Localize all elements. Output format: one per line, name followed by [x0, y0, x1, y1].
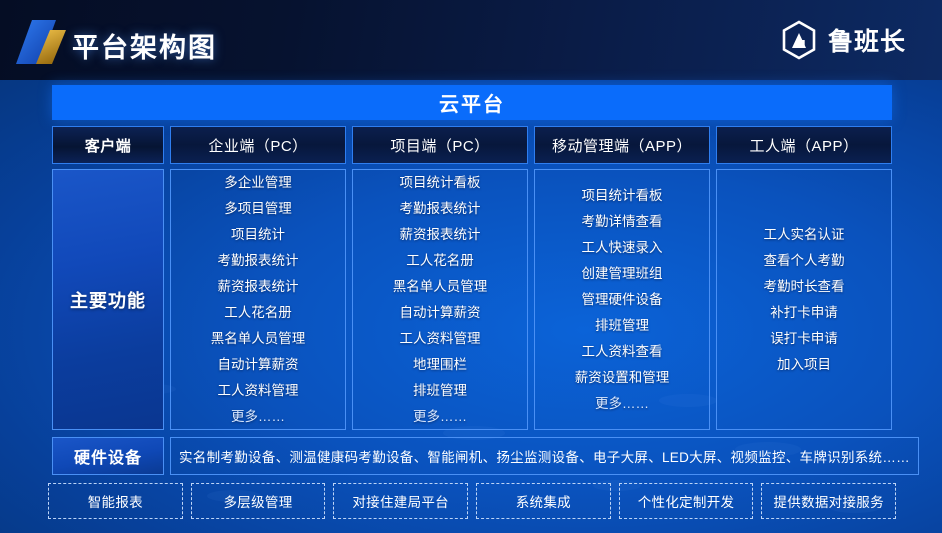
service-chip-row: 智能报表 多层级管理 对接住建局平台 系统集成 个性化定制开发 提供数据对接服务: [48, 483, 896, 519]
feature-item: 考勤报表统计: [400, 196, 481, 221]
feature-item: 查看个人考勤: [764, 248, 845, 273]
feature-item: 工人资料查看: [582, 339, 663, 364]
main-features-label: 主要功能: [52, 169, 164, 430]
double-parallelogram-logo-icon: [16, 18, 72, 66]
feature-item: 黑名单人员管理: [211, 326, 306, 351]
cloud-platform-bar: 云平台: [52, 85, 892, 120]
tab-mobile-management-app[interactable]: 移动管理端（APP）: [534, 126, 710, 164]
feature-item: 补打卡申请: [770, 300, 838, 325]
feature-item: 管理硬件设备: [582, 287, 663, 312]
feature-item: 误打卡申请: [770, 326, 838, 351]
tab-worker-app[interactable]: 工人端（APP）: [716, 126, 892, 164]
feature-item: 工人实名认证: [764, 222, 845, 247]
feature-item: 排班管理: [595, 313, 649, 338]
chip-custom-development[interactable]: 个性化定制开发: [619, 483, 754, 519]
feature-item: 创建管理班组: [582, 261, 663, 286]
tab-enterprise-pc[interactable]: 企业端（PC）: [170, 126, 346, 164]
feature-item: 薪资报表统计: [218, 274, 299, 299]
feature-item: 自动计算薪资: [400, 300, 481, 325]
hardware-items-list: 实名制考勤设备、测温健康码考勤设备、智能闸机、扬尘监测设备、电子大屏、LED大屏…: [170, 437, 919, 475]
brand-logo: 鲁班长: [779, 20, 906, 60]
feature-column-project-pc: 项目统计看板 考勤报表统计 薪资报表统计 工人花名册 黑名单人员管理 自动计算薪…: [352, 169, 528, 430]
feature-item: 工人快速录入: [582, 235, 663, 260]
feature-item: 薪资报表统计: [400, 222, 481, 247]
feature-item: 地理围栏: [413, 352, 467, 377]
chip-housing-bureau-platform[interactable]: 对接住建局平台: [333, 483, 468, 519]
feature-item: 工人资料管理: [400, 326, 481, 351]
feature-item: 自动计算薪资: [218, 352, 299, 377]
feature-item-more[interactable]: 更多……: [595, 391, 649, 416]
feature-item: 多企业管理: [224, 170, 292, 195]
cloud-platform-label: 云平台: [439, 88, 505, 117]
chip-multi-level-management[interactable]: 多层级管理: [191, 483, 326, 519]
hardware-row-label: 硬件设备: [52, 437, 164, 475]
feature-item: 项目统计看板: [582, 183, 663, 208]
client-tab-row: 客户端 企业端（PC） 项目端（PC） 移动管理端（APP） 工人端（APP）: [52, 126, 892, 164]
feature-item: 项目统计看板: [400, 170, 481, 195]
feature-item: 薪资设置和管理: [575, 365, 670, 390]
page-header: 平台架构图 鲁班长: [0, 0, 942, 80]
feature-item: 工人花名册: [406, 248, 474, 273]
feature-item: 考勤报表统计: [218, 248, 299, 273]
tab-project-pc[interactable]: 项目端（PC）: [352, 126, 528, 164]
feature-item-more[interactable]: 更多……: [413, 404, 467, 429]
chip-data-docking-service[interactable]: 提供数据对接服务: [761, 483, 896, 519]
feature-item: 黑名单人员管理: [393, 274, 488, 299]
feature-item: 加入项目: [777, 352, 831, 377]
main-features-row: 主要功能 多企业管理 多项目管理 项目统计 考勤报表统计 薪资报表统计 工人花名…: [52, 169, 892, 430]
hardware-row: 硬件设备 实名制考勤设备、测温健康码考勤设备、智能闸机、扬尘监测设备、电子大屏、…: [52, 437, 892, 475]
client-row-label: 客户端: [52, 126, 164, 164]
feature-item: 考勤时长查看: [764, 274, 845, 299]
hexagon-building-icon: [779, 20, 819, 60]
feature-column-enterprise-pc: 多企业管理 多项目管理 项目统计 考勤报表统计 薪资报表统计 工人花名册 黑名单…: [170, 169, 346, 430]
feature-column-mobile-management-app: 项目统计看板 考勤详情查看 工人快速录入 创建管理班组 管理硬件设备 排班管理 …: [534, 169, 710, 430]
feature-item-more[interactable]: 更多……: [231, 404, 285, 429]
feature-item: 项目统计: [231, 222, 285, 247]
feature-column-worker-app: 工人实名认证 查看个人考勤 考勤时长查看 补打卡申请 误打卡申请 加入项目: [716, 169, 892, 430]
chip-system-integration[interactable]: 系统集成: [476, 483, 611, 519]
feature-item: 多项目管理: [224, 196, 292, 221]
chip-smart-report[interactable]: 智能报表: [48, 483, 183, 519]
feature-item: 排班管理: [413, 378, 467, 403]
feature-item: 工人资料管理: [218, 378, 299, 403]
brand-name: 鲁班长: [828, 22, 906, 58]
feature-item: 考勤详情查看: [582, 209, 663, 234]
page-title: 平台架构图: [72, 26, 217, 65]
feature-item: 工人花名册: [224, 300, 292, 325]
